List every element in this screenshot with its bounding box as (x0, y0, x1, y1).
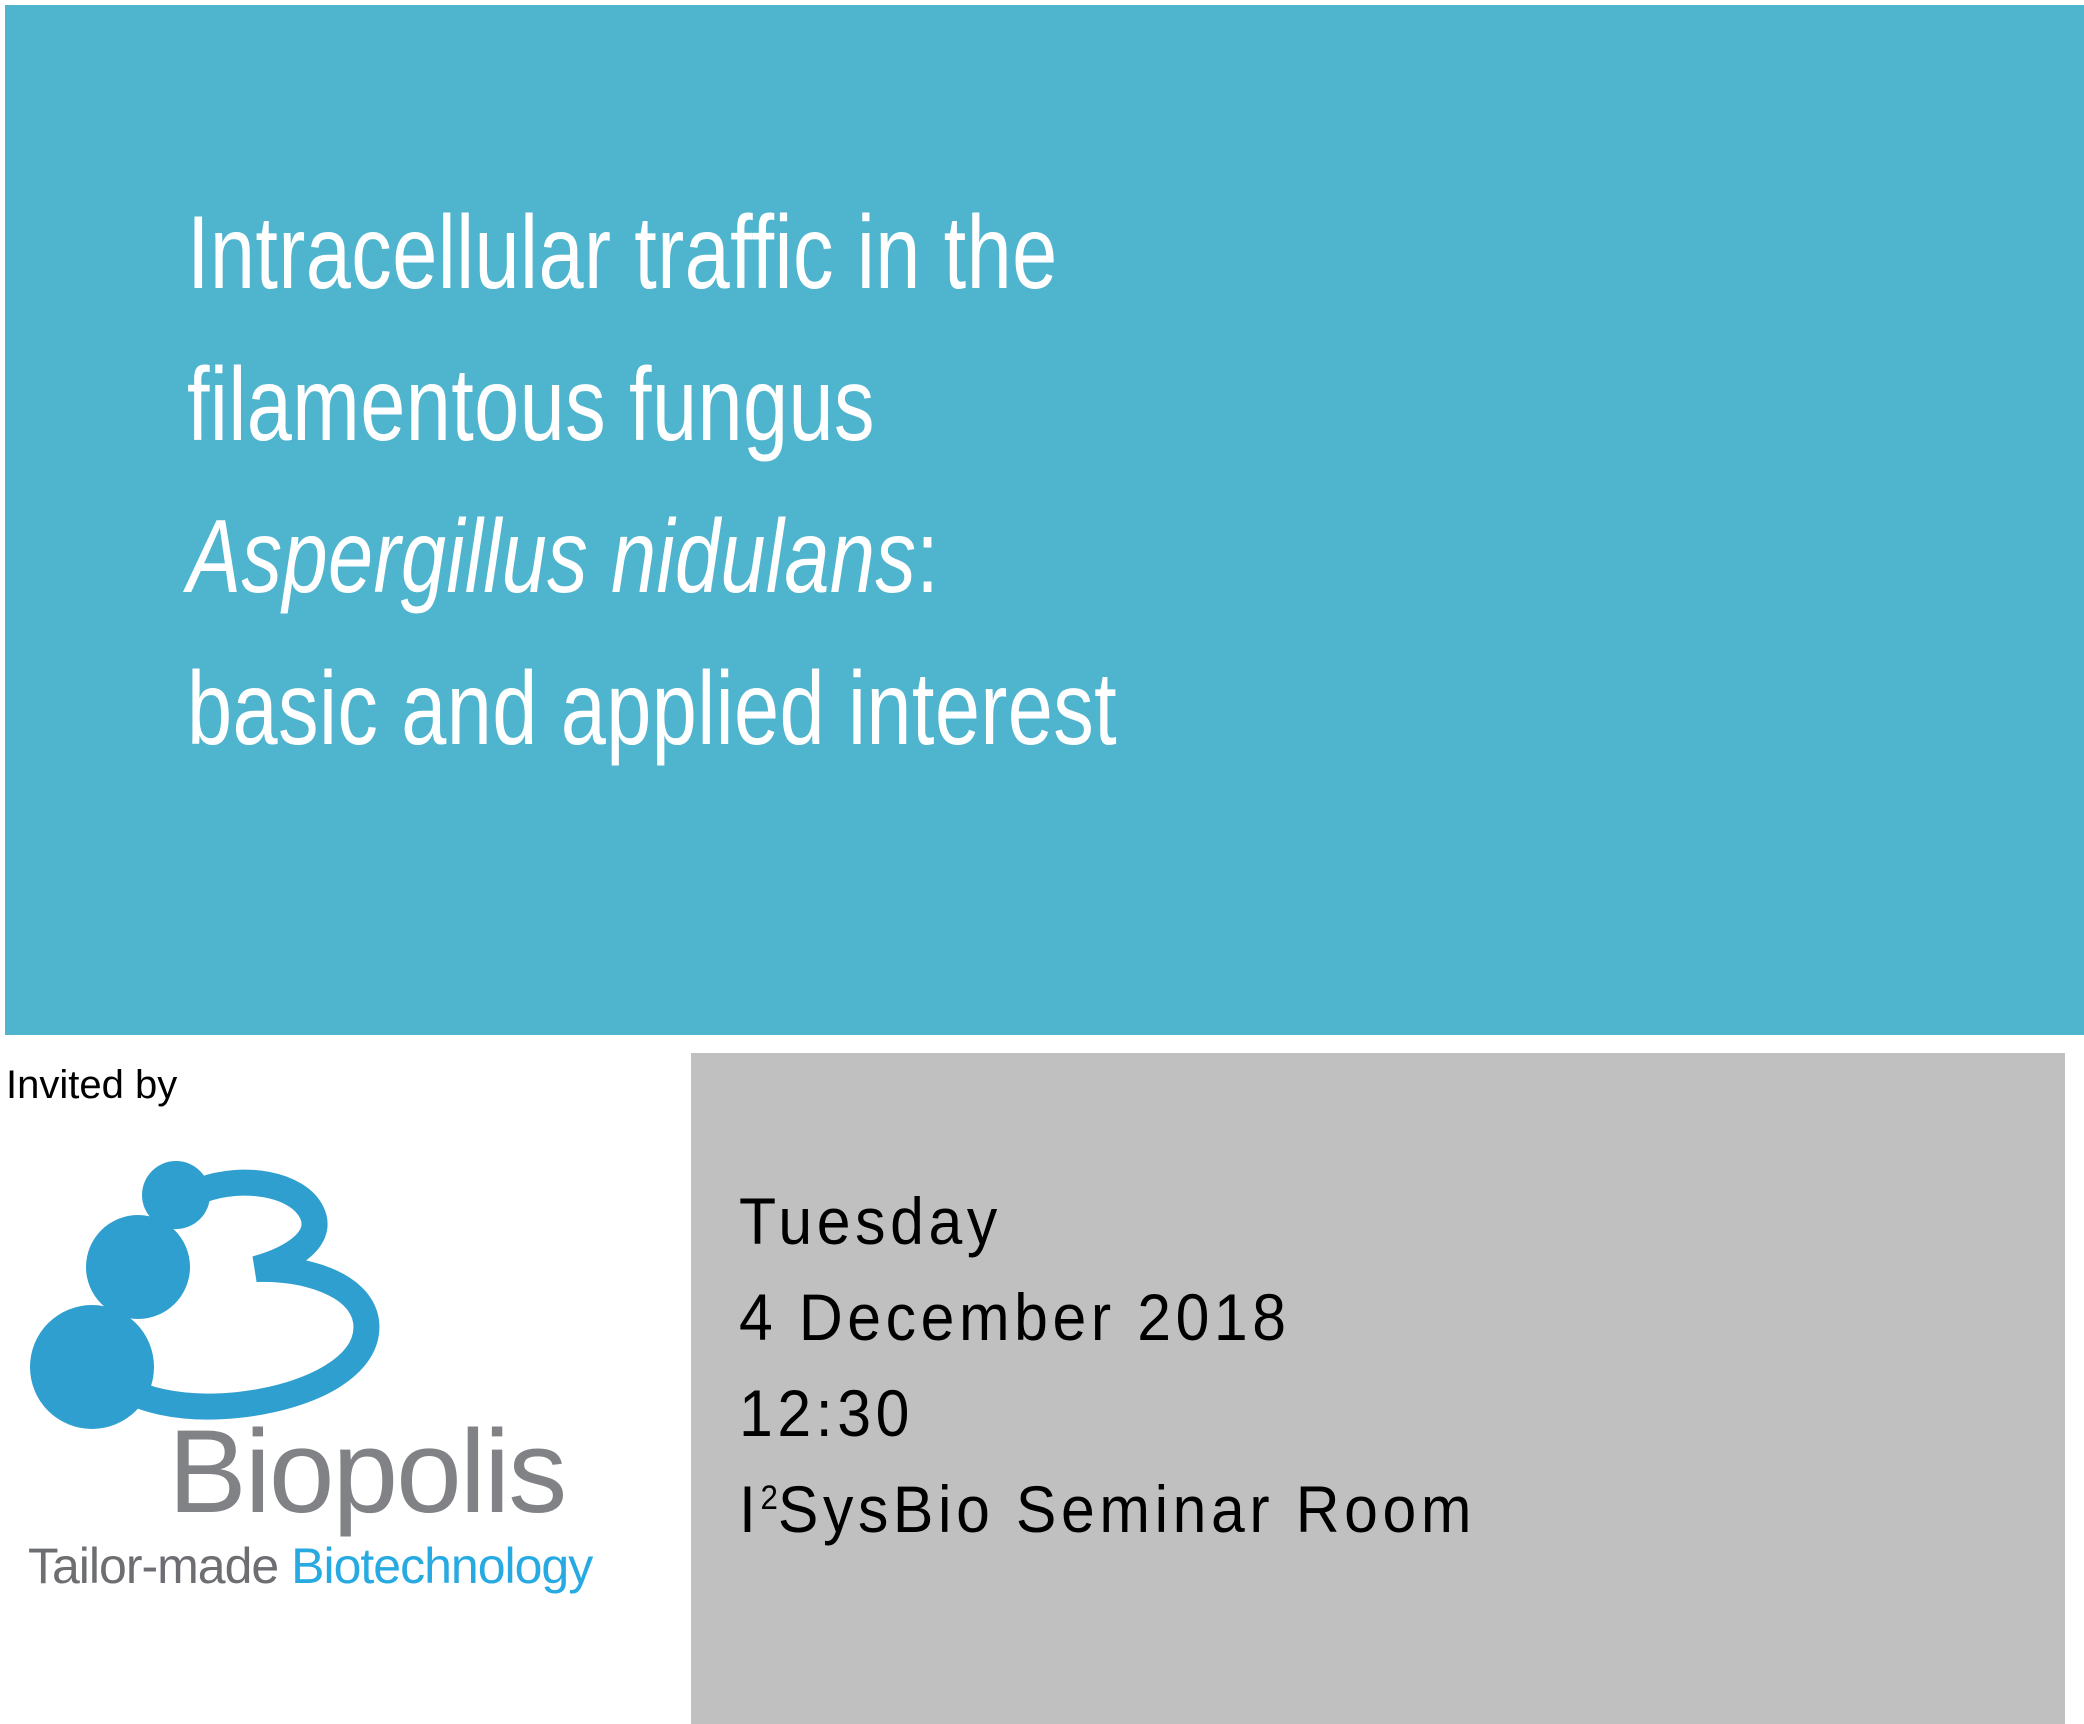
title-line-1-text: Intracellular traffic in the (187, 195, 1058, 311)
event-time: 12:30 (739, 1365, 1476, 1461)
biopolis-logo: Biopolis Tailor-made Biotechnology (20, 1155, 660, 1655)
invited-by-label: Invited by (6, 1063, 177, 1108)
biopolis-molecule-mark-icon (30, 1155, 380, 1435)
title-line-4: basic and applied interest (187, 633, 1653, 785)
event-date: 4 December 2018 (739, 1269, 1476, 1365)
venue-rest: SysBio Seminar Room (778, 1472, 1476, 1546)
species-name-colon: : (916, 499, 939, 615)
species-name-italic: Aspergillus nidulans (187, 499, 916, 615)
tagline-biotechnology: Biotechnology (291, 1538, 592, 1594)
venue-prefix: I (739, 1472, 760, 1546)
event-venue: I2SysBio Seminar Room (739, 1461, 1476, 1557)
event-day: Tuesday (739, 1173, 1476, 1269)
event-details-list: Tuesday 4 December 2018 12:30 I2SysBio S… (739, 1173, 1540, 1557)
seminar-title: Intracellular traffic in the filamentous… (187, 177, 2067, 785)
title-line-2: filamentous fungus (187, 329, 1653, 481)
title-banner: Intracellular traffic in the filamentous… (5, 5, 2084, 1035)
tagline-space (278, 1538, 291, 1594)
event-details-panel: Tuesday 4 December 2018 12:30 I2SysBio S… (691, 1053, 2065, 1724)
title-line-4-text: basic and applied interest (187, 651, 1117, 767)
title-line-1: Intracellular traffic in the (187, 177, 1653, 329)
venue-superscript: 2 (760, 1479, 777, 1517)
title-line-3: Aspergillus nidulans: (187, 481, 1653, 633)
biopolis-tagline: Tailor-made Biotechnology (28, 1540, 592, 1592)
tagline-tailor-made: Tailor-made (28, 1538, 278, 1594)
title-line-2-text: filamentous fungus (187, 347, 875, 463)
biopolis-wordmark: Biopolis (168, 1413, 565, 1531)
